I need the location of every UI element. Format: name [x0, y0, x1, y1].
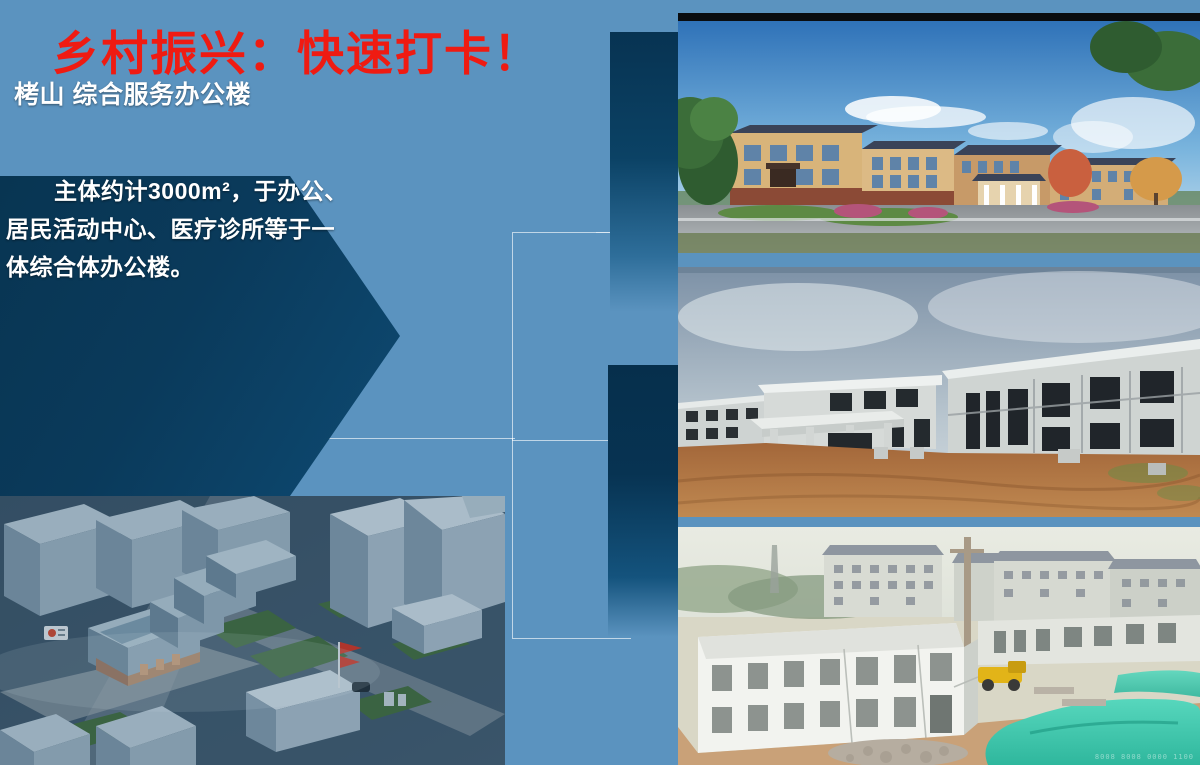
- page-title: 乡村振兴：快速打卡！: [52, 28, 542, 80]
- photo-watermark: 8008 8008 0000 1100: [1095, 753, 1194, 761]
- accent-bar-upper: [610, 32, 678, 312]
- construction-site-illustration: [678, 267, 1200, 517]
- photo-3d-site-model[interactable]: [0, 496, 505, 765]
- panel-body-text: 主体约计3000m²，于办公、居民活动中心、医疗诊所等于一体综合体办公楼。: [6, 172, 358, 286]
- slide-canvas: 乡村振兴：快速打卡！ 栲山 综合服务办公楼 主体约计3000m²，于办公、居民活…: [0, 0, 1200, 765]
- rendering-illustration: [678, 13, 1200, 253]
- site-model-illustration: [0, 496, 505, 765]
- photo-aerial-progress[interactable]: 8008 8008 0000 1100: [678, 527, 1200, 765]
- accent-bar-lower: [608, 365, 678, 637]
- decorative-connector-line-left: [300, 438, 515, 439]
- aerial-progress-illustration: [678, 527, 1200, 765]
- panel-heading: 栲山 综合服务办公楼: [14, 75, 344, 111]
- photo-construction-site[interactable]: [678, 267, 1200, 517]
- photo-architectural-rendering[interactable]: [678, 13, 1200, 253]
